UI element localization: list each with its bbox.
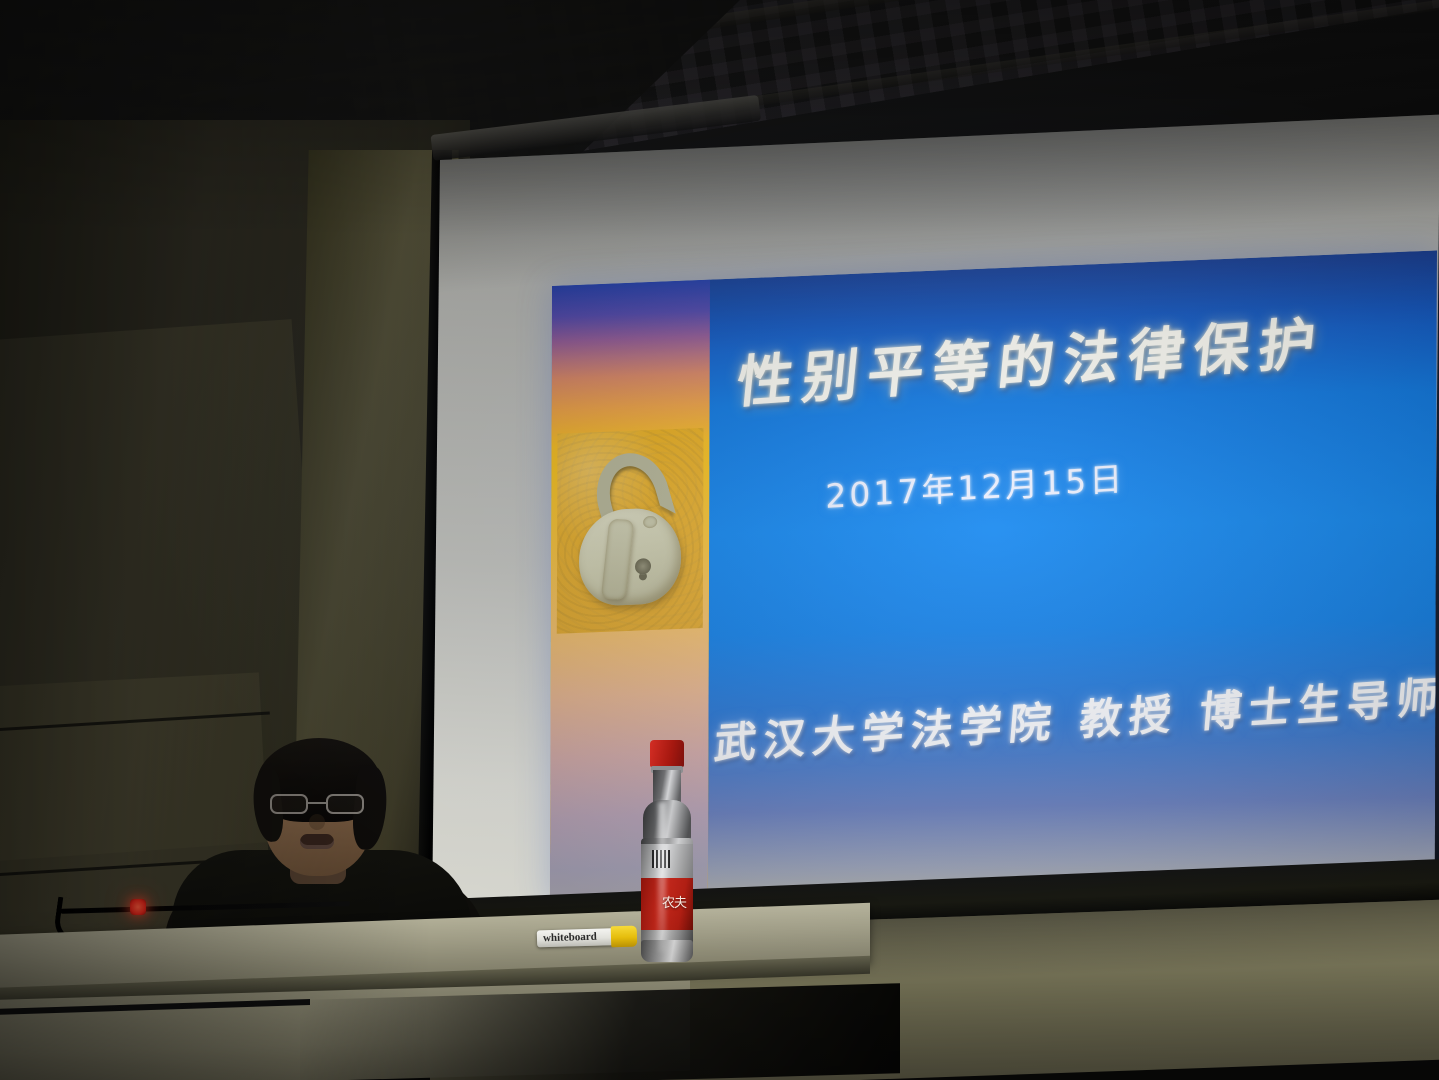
slide-title: 性别平等的法律保护 [734,291,1427,419]
speaker-nose [309,814,325,830]
open-padlock-icon [557,428,704,634]
lectern-desk-shadow [300,983,900,1080]
marker-cap [611,926,638,948]
whiteboard-marker: whiteboard [537,924,638,953]
slide-content: 性别平等的法律保护 2017年12月15日 武汉大学法学院 教授 博士生导师 [708,250,1437,899]
bottle-shoulder [643,800,691,842]
eyeglass-bridge [308,802,326,804]
speaker-mouth [300,834,334,849]
eyeglass-lens-right [326,794,364,814]
eyeglass-lens-left [270,794,308,814]
marker-label: whiteboard [543,931,597,944]
water-bottle: 农夫 [636,740,698,962]
slide-affiliation: 武汉大学法学院 教授 博士生导师 [712,663,1437,771]
eyeglasses-icon [268,794,368,814]
microphone-indicator-led [130,899,146,915]
bottle-highlight [658,802,666,952]
bottle-cap [650,740,684,767]
bottle-base [641,940,693,962]
photo-scene: 性别平等的法律保护 2017年12月15日 武汉大学法学院 教授 博士生导师 [0,0,1439,1080]
slide-date: 2017年12月15日 [825,452,1126,518]
